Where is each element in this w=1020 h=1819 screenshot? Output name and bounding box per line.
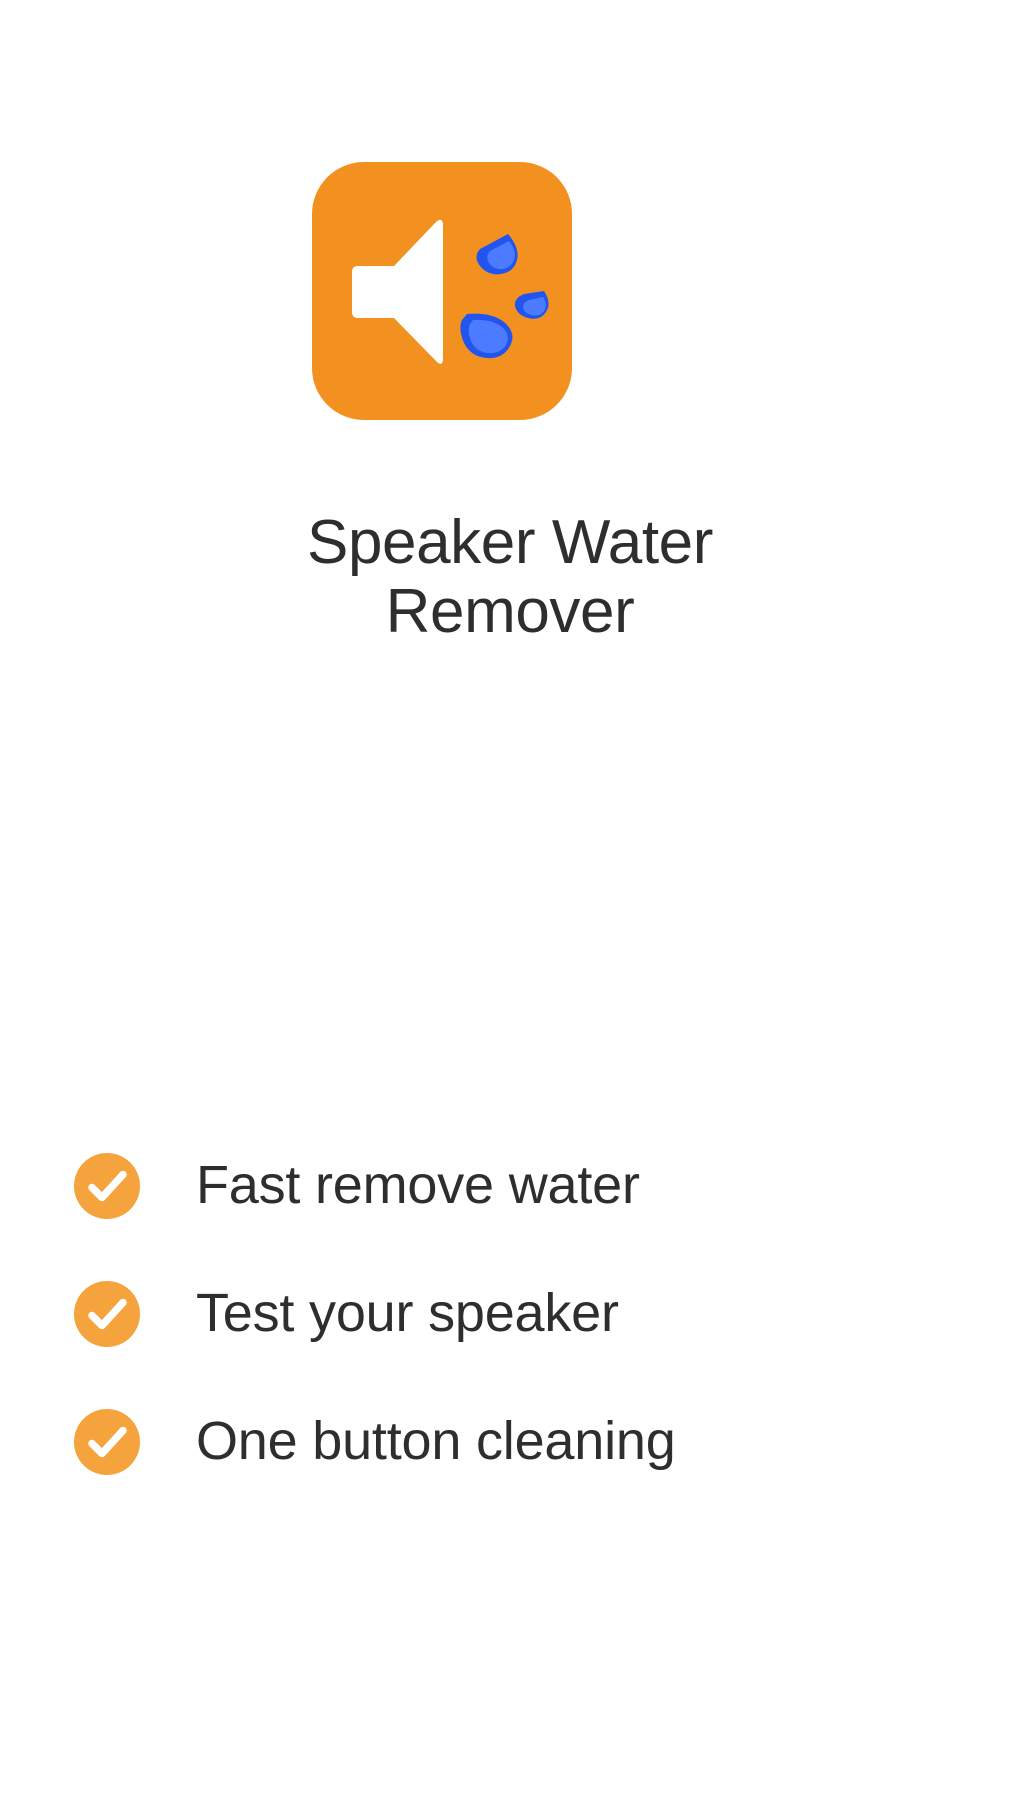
check-mark-glyph	[74, 1409, 140, 1475]
check-circle-icon	[74, 1153, 140, 1219]
feature-label: One button cleaning	[196, 1412, 676, 1471]
speaker-with-water-droplets-icon	[312, 162, 572, 420]
app-title-line-1: Speaker Water	[307, 508, 713, 577]
speaker-water-remover-app-icon[interactable]	[312, 162, 572, 420]
feature-list-item: Test your speaker	[0, 1250, 1020, 1378]
feature-list: Fast remove water Test your speaker One …	[0, 1122, 1020, 1506]
feature-label: Fast remove water	[196, 1156, 640, 1215]
app-title-line-2: Remover	[386, 577, 635, 646]
feature-list-item: One button cleaning	[0, 1378, 1020, 1506]
app-hero: Speaker Water Remover	[0, 0, 1020, 720]
feature-label: Test your speaker	[196, 1284, 619, 1343]
check-circle-icon	[74, 1409, 140, 1475]
feature-list-item: Fast remove water	[0, 1122, 1020, 1250]
check-circle-icon	[74, 1281, 140, 1347]
app-promo-page: Speaker Water Remover Fast remove water …	[0, 0, 1020, 1819]
check-mark-glyph	[74, 1153, 140, 1219]
check-mark-glyph	[74, 1281, 140, 1347]
app-title: Speaker Water Remover	[60, 508, 960, 647]
